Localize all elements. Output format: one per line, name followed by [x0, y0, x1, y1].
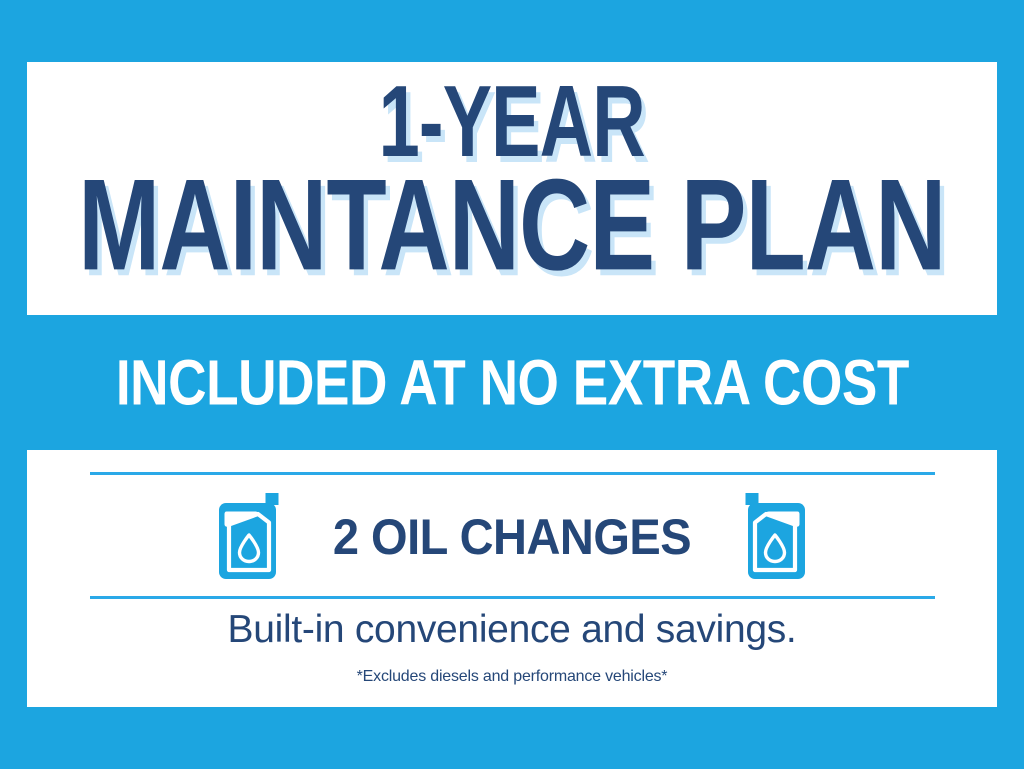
headline-line-2: MAINTANCE PLAN: [78, 165, 945, 285]
divider-top: [90, 472, 935, 475]
offer-label: 2 OIL CHANGES: [333, 507, 691, 565]
oil-can-icon-left: [215, 491, 285, 581]
subheading-band: INCLUDED AT NO EXTRA COST: [0, 315, 1024, 450]
subheading-text: INCLUDED AT NO EXTRA COST: [115, 345, 908, 419]
headline-card: 1-YEAR MAINTANCE PLAN: [27, 62, 997, 315]
tagline-text: Built-in convenience and savings.: [27, 608, 997, 652]
divider-bottom: [90, 596, 935, 599]
offer-row: 2 OIL CHANGES: [27, 480, 997, 592]
fineprint-text: *Excludes diesels and performance vehicl…: [27, 668, 997, 686]
oil-can-icon-right: [739, 491, 809, 581]
details-card: 2 OIL CHANGES Built-in convenience and s…: [27, 450, 997, 707]
promo-poster: 1-YEAR MAINTANCE PLAN INCLUDED AT NO EXT…: [0, 0, 1024, 769]
